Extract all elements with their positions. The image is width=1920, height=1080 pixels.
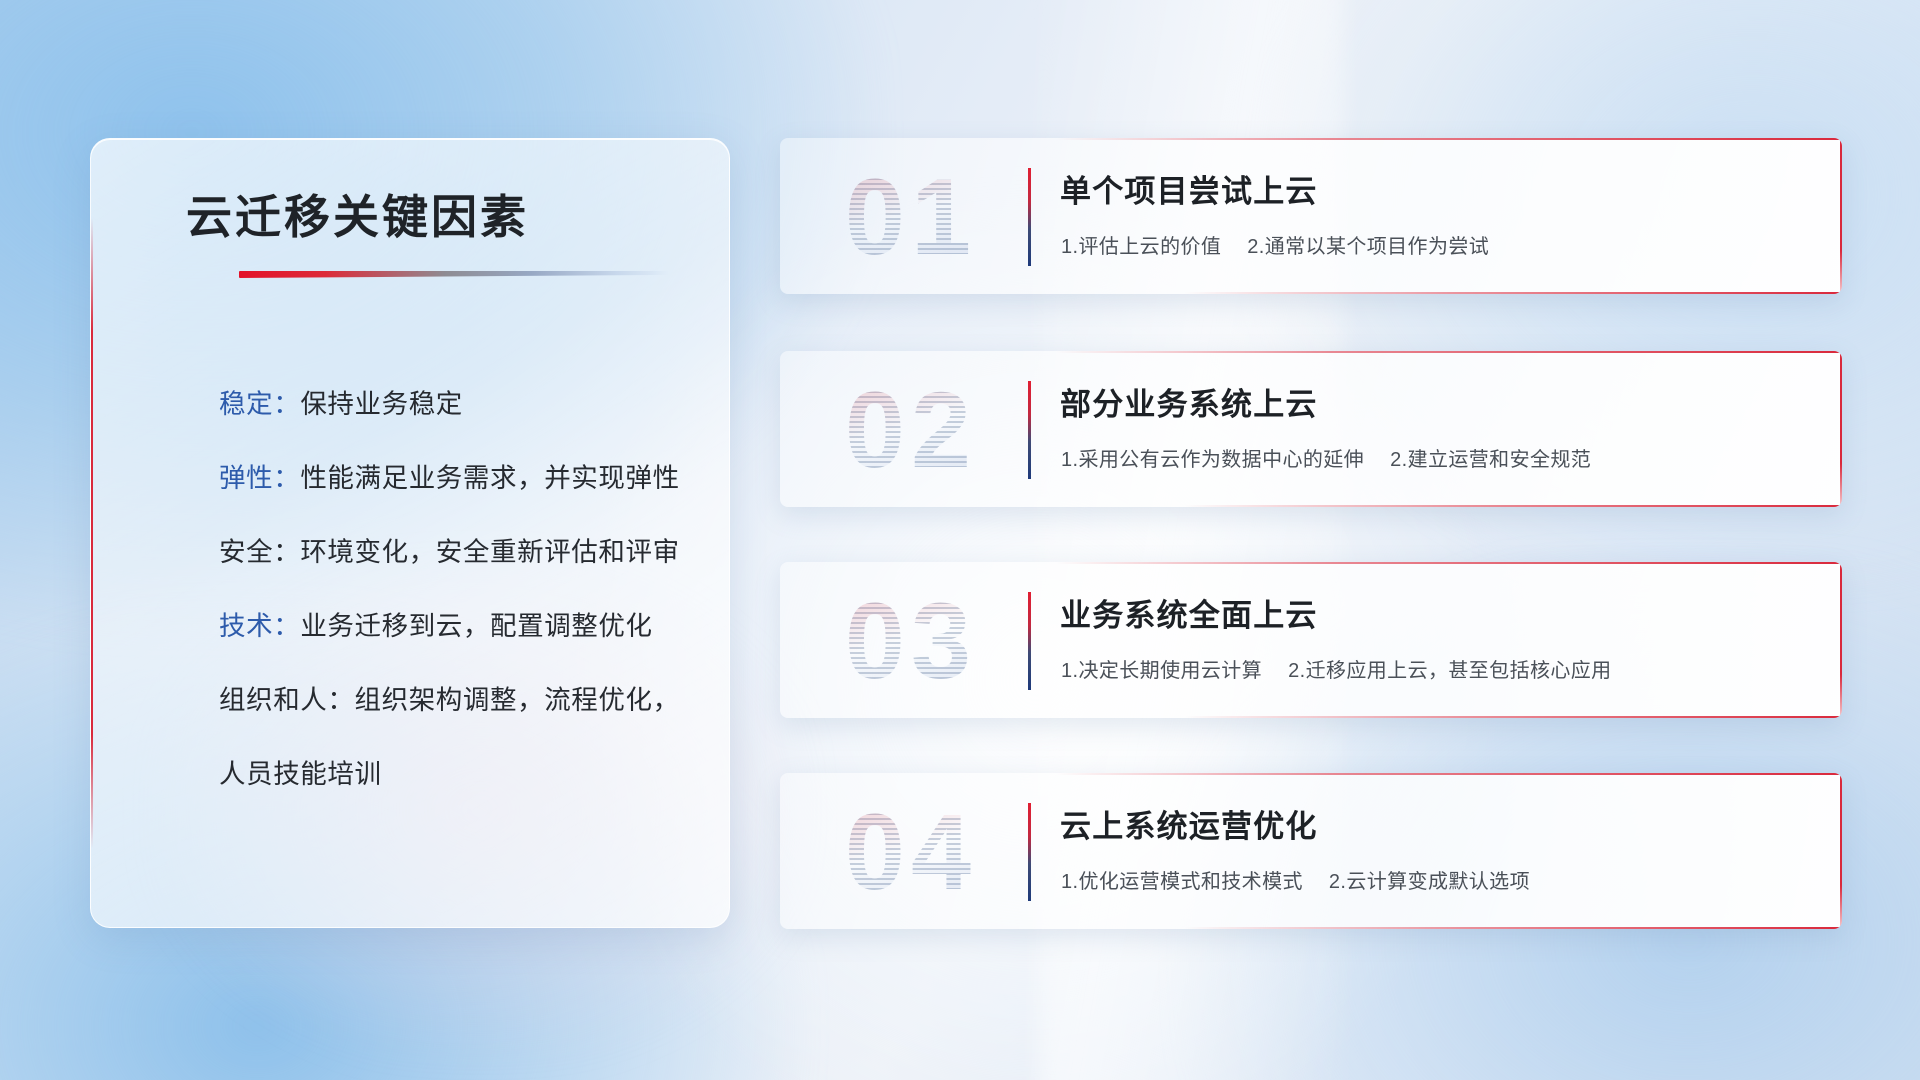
- card-subtitle-part-2: 2.建立运营和安全规范: [1390, 449, 1591, 471]
- step-number-tint: 01: [816, 158, 1006, 276]
- list-item-text: 人员技能培训: [219, 759, 382, 789]
- card-subtitle: 1.采用公有云作为数据中心的延伸2.建立运营和安全规范: [1061, 443, 1591, 472]
- list-item: 人员技能培训: [219, 737, 689, 811]
- list-item: 弹性：性能满足业务需求，并实现弹性: [219, 441, 689, 515]
- list-item-key: 安全：: [219, 537, 300, 567]
- list-item-key: 组织和人：: [219, 685, 355, 715]
- step-card[interactable]: 02 02 部分业务系统上云 1.采用公有云作为数据中心的延伸2.建立运营和安全…: [780, 351, 1842, 507]
- list-item-text: 业务迁移到云，配置调整优化: [300, 611, 652, 641]
- card-subtitle-part-2: 2.迁移应用上云，甚至包括核心应用: [1288, 660, 1611, 682]
- card-bottom-accent: [1184, 927, 1842, 929]
- card-subtitle-part-1: 1.决定长期使用云计算: [1061, 660, 1262, 682]
- slide-stage: 云迁移关键因素 稳定：保持业务稳定 弹性：性能满足业务需求，并实现弹性 安全：环…: [0, 0, 1920, 1080]
- list-item: 技术：业务迁移到云，配置调整优化: [219, 589, 689, 663]
- card-bottom-accent: [1184, 716, 1842, 718]
- card-divider-bar: [1028, 592, 1031, 690]
- list-item-text: 保持业务稳定: [300, 389, 463, 419]
- panel-title-underline: [239, 271, 669, 278]
- step-card[interactable]: 04 04 云上系统运营优化 1.优化运营模式和技术模式2.云计算变成默认选项: [780, 773, 1842, 929]
- list-item-text: 性能满足业务需求，并实现弹性: [300, 463, 679, 493]
- list-item-key: 技术：: [219, 611, 300, 641]
- card-title: 云上系统运营优化: [1060, 801, 1318, 846]
- card-bottom-accent: [1184, 292, 1842, 294]
- step-card[interactable]: 01 01 单个项目尝试上云 1.评估上云的价值2.通常以某个项目作为尝试: [780, 138, 1842, 294]
- key-factors-panel: 云迁移关键因素 稳定：保持业务稳定 弹性：性能满足业务需求，并实现弹性 安全：环…: [90, 138, 730, 928]
- list-item: 安全：环境变化，安全重新评估和评审: [219, 515, 689, 589]
- card-divider-bar: [1028, 803, 1031, 901]
- list-item-text: 组织架构调整，流程优化，: [355, 685, 680, 715]
- list-item-text: 环境变化，安全重新评估和评审: [300, 537, 679, 567]
- list-item: 组织和人：组织架构调整，流程优化，: [219, 663, 689, 737]
- card-divider-bar: [1028, 381, 1031, 479]
- card-subtitle-part-1: 1.优化运营模式和技术模式: [1061, 871, 1303, 893]
- list-item-key: 弹性：: [219, 463, 300, 493]
- card-subtitle-part-2: 2.云计算变成默认选项: [1329, 871, 1530, 893]
- step-card[interactable]: 03 03 业务系统全面上云 1.决定长期使用云计算2.迁移应用上云，甚至包括核…: [780, 562, 1842, 718]
- card-subtitle-part-2: 2.通常以某个项目作为尝试: [1247, 236, 1489, 258]
- card-subtitle-part-1: 1.采用公有云作为数据中心的延伸: [1061, 449, 1364, 471]
- step-number-tint: 02: [816, 371, 1006, 489]
- key-factors-list: 稳定：保持业务稳定 弹性：性能满足业务需求，并实现弹性 安全：环境变化，安全重新…: [219, 367, 689, 811]
- card-subtitle-part-1: 1.评估上云的价值: [1061, 236, 1221, 258]
- card-title: 部分业务系统上云: [1060, 379, 1318, 424]
- card-subtitle: 1.决定长期使用云计算2.迁移应用上云，甚至包括核心应用: [1061, 654, 1612, 683]
- card-subtitle: 1.优化运营模式和技术模式2.云计算变成默认选项: [1061, 865, 1530, 894]
- list-item-key: 稳定：: [219, 389, 300, 419]
- card-title: 单个项目尝试上云: [1060, 166, 1318, 211]
- step-number-tint: 04: [816, 793, 1006, 911]
- list-item: 稳定：保持业务稳定: [219, 367, 689, 441]
- card-subtitle: 1.评估上云的价值2.通常以某个项目作为尝试: [1061, 230, 1489, 259]
- card-divider-bar: [1028, 168, 1031, 266]
- card-bottom-accent: [1184, 505, 1842, 507]
- card-title: 业务系统全面上云: [1060, 590, 1318, 635]
- step-number-tint: 03: [816, 582, 1006, 700]
- panel-title: 云迁移关键因素: [186, 181, 529, 247]
